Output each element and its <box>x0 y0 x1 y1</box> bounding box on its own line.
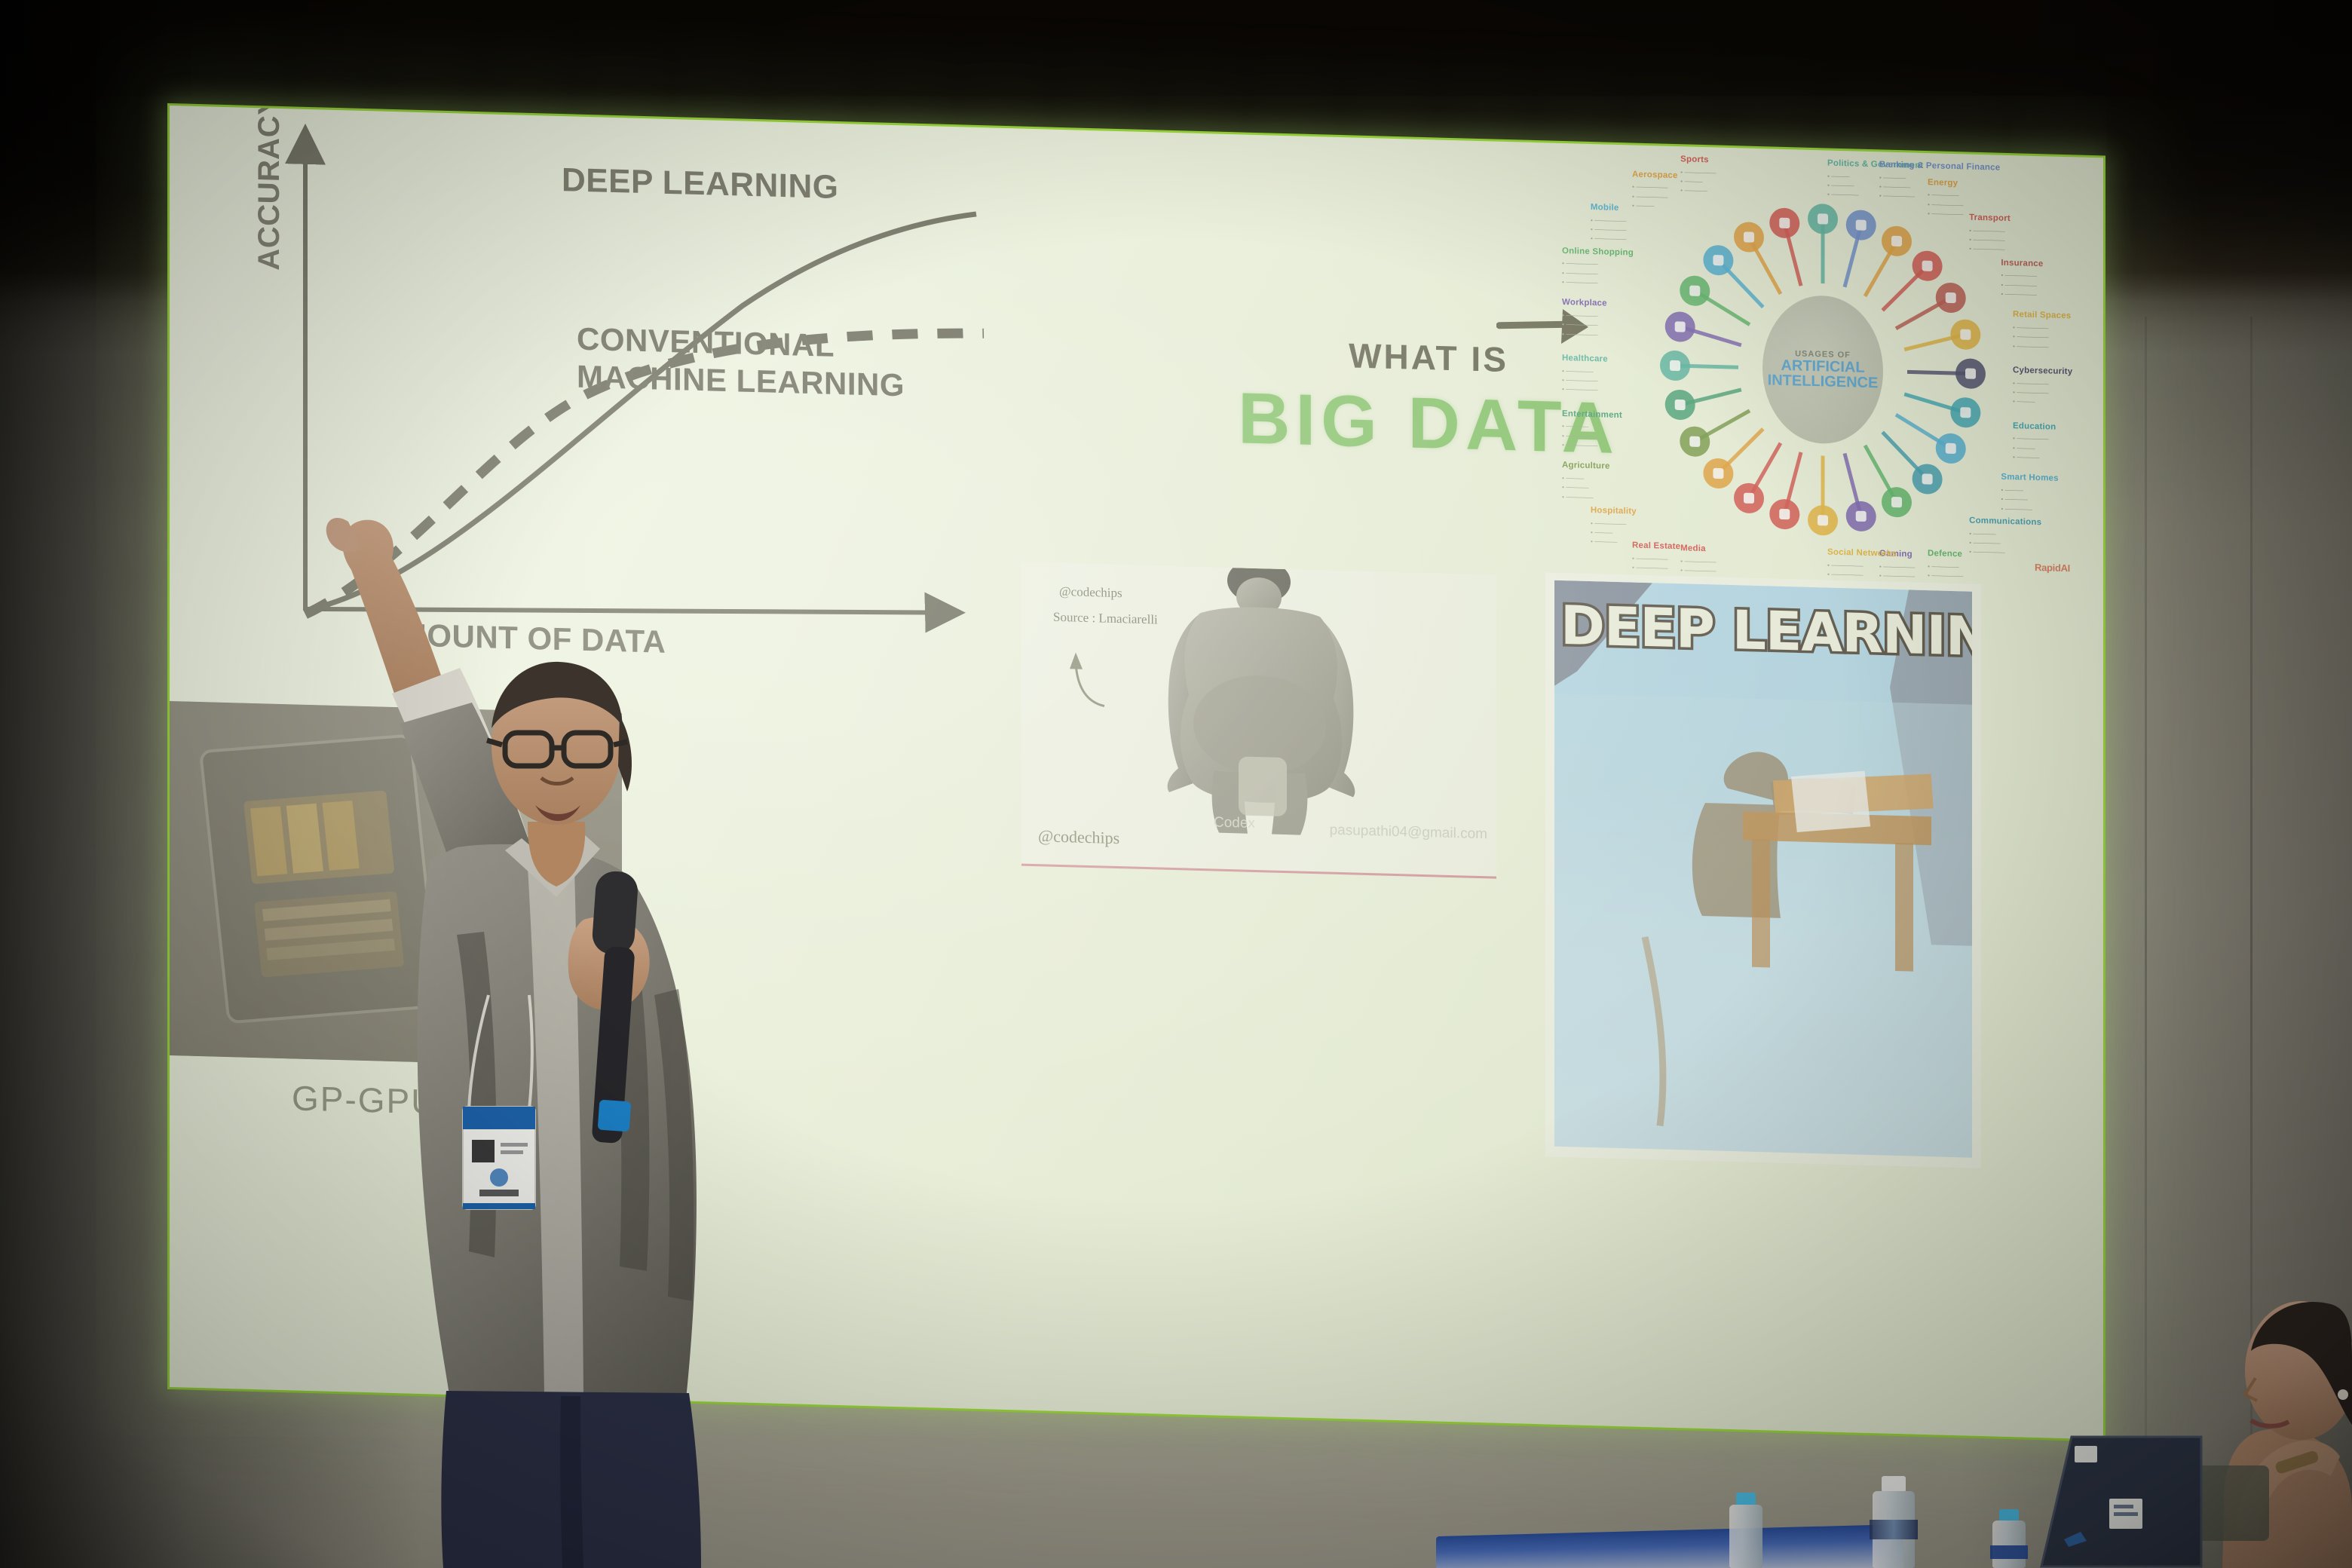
microphone-head <box>591 870 639 956</box>
infographic-sector-icon <box>1675 321 1686 332</box>
infographic-logo: RapidAI <box>2035 562 2070 574</box>
infographic-sector-bullet: • ─────── <box>2013 433 2056 444</box>
infographic-sector-bullet: • ─────── <box>1632 182 1678 193</box>
laptop-sticker <box>2075 1446 2097 1462</box>
infographic-sector-bullet: • ─────── <box>1562 384 1608 395</box>
infographic-sector-note: Cybersecurity• ───────• ───────• ──── <box>2013 364 2072 408</box>
infographic-sector-bullet: • ─────── <box>1562 440 1622 451</box>
infographic-sector-note: Retail Spaces• ───────• ───────• ─────── <box>2013 309 2071 353</box>
infographic-sector-title: Media <box>1680 542 1717 556</box>
infographic-sector-bullet: • ──── <box>1632 201 1678 211</box>
infographic-sector-note: Education• ───────• ────• ───── <box>2013 420 2056 463</box>
infographic-sector-bullet: • ───── <box>1680 186 1717 197</box>
infographic-sector-icon <box>1713 255 1723 265</box>
poster-title: DEEP LEARNING <box>1560 594 1972 668</box>
infographic-sector-bullet: • ─────── <box>1591 234 1627 244</box>
infographic-sector-note: Aerospace• ───────• ───────• ──── <box>1632 168 1678 211</box>
infographic-sector-title: Energy <box>1928 176 1964 190</box>
laptop[interactable] <box>2031 1432 2204 1568</box>
infographic-sector-title: Communications <box>1969 515 2041 529</box>
infographic-sector-icon <box>1689 436 1700 447</box>
infographic-sector-title: Entertainment <box>1562 408 1622 422</box>
infographic-sector-icon <box>1856 511 1867 522</box>
water-bottle <box>1870 1476 1918 1568</box>
infographic-sector-bullet: • ───── <box>1562 482 1610 493</box>
infographic-sector-bullet: • ─────── <box>2001 289 2043 300</box>
infographic-sector-title: Real Estate <box>1632 540 1680 553</box>
infographic-sector-note: Sports• ───────• ────• ───── <box>1680 153 1717 196</box>
infographic-sector-bullet: • ────── <box>1562 492 1610 503</box>
infographic-sector-note: Energy• ──────• ───────• ─────── <box>1928 176 1964 219</box>
meme-handle-bottom: @codechips <box>1038 826 1119 848</box>
infographic-sector-icon <box>1670 360 1680 371</box>
infographic-sector-note: Mobile• ───────• ───────• ─────── <box>1591 201 1627 244</box>
infographic-center-title-2: INTELLIGENCE <box>1768 372 1879 390</box>
infographic-sector-bullet: • ─────── <box>1928 209 1964 219</box>
infographic-sector-title: Insurance <box>2001 256 2043 270</box>
infographic-sector-bullet: • ────── <box>1928 190 1964 201</box>
infographic-sector-note: Healthcare• ──────• ───────• ─────── <box>1562 352 1608 395</box>
big-data-meme-image: @codechips Source : Lmaciarelli @codechi… <box>1021 562 1496 879</box>
poster-pool-photo: DEEP LEARNING <box>1554 580 1972 1158</box>
infographic-sector-note: Insurance• ───────• ───────• ─────── <box>2001 256 2043 299</box>
infographic-sector-bullet: • ─────── <box>1562 320 1607 330</box>
water-bottle <box>1726 1493 1766 1568</box>
laptop-svg[interactable] <box>2031 1432 2204 1568</box>
infographic-sector-title: Social Networks <box>1827 547 1897 561</box>
infographic-sector-title: Hospitality <box>1591 504 1637 518</box>
microphone-band <box>598 1100 632 1132</box>
infographic-sector-title: Sports <box>1680 153 1717 167</box>
infographic-sector-icon <box>1744 493 1754 504</box>
infographic-sector-bullet: • ─────── <box>1928 200 1964 210</box>
infographic-sector-icon <box>1922 473 1933 484</box>
infographic-sector-bullet: • ─────── <box>1562 277 1634 289</box>
infographic-sector-note: Agriculture• ────• ─────• ────── <box>1562 459 1610 502</box>
presenter-svg <box>279 467 807 1568</box>
meme-pointer-arrow <box>1052 635 1119 709</box>
infographic-sector-icon <box>1818 515 1828 525</box>
infographic-sector-title: Mobile <box>1591 201 1627 215</box>
deep-learning-curve-label: DEEP LEARNING <box>562 161 839 207</box>
infographic-sector-note: Hospitality• ───────• ────• ───── <box>1591 504 1637 547</box>
infographic-sector-bullet: • ─────── <box>1928 571 1964 581</box>
infographic-sector-bullet: • ─────── <box>1591 216 1627 226</box>
infographic-sector-bullet: • ─────── <box>1969 547 2041 559</box>
infographic-sector-icon <box>1779 509 1790 519</box>
conventional-ml-curve-label: CONVENTIONAL MACHINE LEARNING <box>577 320 905 404</box>
infographic-sector-bullet: • ─────── <box>1562 329 1607 340</box>
ai-usages-infographic: USAGES OF ARTIFICIAL INTELLIGENCE Politi… <box>1560 147 2081 583</box>
infographic-sector-bullet: • ─────── <box>2013 341 2071 352</box>
infographic-sector-icon <box>1779 218 1790 228</box>
infographic-sector-icon <box>1891 497 1902 507</box>
infographic-sector-icon <box>1713 468 1723 479</box>
infographic-sector-icon <box>1891 236 1902 247</box>
earring <box>2338 1389 2348 1400</box>
infographic-sector-title: Education <box>2013 420 2056 433</box>
meme-watermark: Codex <box>1214 814 1255 831</box>
infographic-sector-icon <box>1960 407 1971 418</box>
infographic-sector-title: Cybersecurity <box>2013 364 2072 378</box>
infographic-sector-bullet: • ────── <box>2001 504 2058 514</box>
infographic-sector-bullet: • ───── <box>2013 452 2056 463</box>
underwater-desk-svg <box>1554 580 1972 1158</box>
water-bottle <box>1990 1509 2028 1568</box>
infographic-sector-title: Online Shopping <box>1562 245 1634 259</box>
infographic-sector-icon <box>1960 329 1971 340</box>
photo-scene: ACCURACY AMOUNT OF DATA DEEP LEARNING CO… <box>0 0 2352 1568</box>
infographic-sector-icon <box>1818 213 1828 224</box>
infographic-sector-title: Retail Spaces <box>2013 309 2071 323</box>
infographic-sector-title: Workplace <box>1562 296 1607 310</box>
infographic-sector-note: Workplace• ───────• ───────• ─────── <box>1562 296 1607 339</box>
infographic-sector-icon <box>1856 219 1867 230</box>
infographic-sector-bullet: • ─────── <box>2001 271 2043 281</box>
presenter <box>279 467 807 1568</box>
infographic-sector-bullet: • ─────── <box>1969 244 2011 255</box>
infographic-sector-note: Entertainment• ─────• ──────• ─────── <box>1562 408 1622 452</box>
infographic-sector-title: Banking & Personal Finance <box>1879 158 2001 174</box>
infographic-sector-icon <box>1965 368 1976 378</box>
infographic-sector-title: Healthcare <box>1562 352 1608 366</box>
infographic-sector-title: Agriculture <box>1562 459 1610 473</box>
chart-y-axis-label: ACCURACY <box>253 106 286 271</box>
infographic-sector-icon <box>1946 292 1956 303</box>
infographic-sector-icon <box>1922 261 1933 271</box>
meme-handle-top: @codechips <box>1059 584 1122 601</box>
infographic-sector-title: Smart Homes <box>2001 471 2058 485</box>
deep-learning-poster: DEEP LEARNING <box>1545 572 1981 1168</box>
infographic-sector-title: Transport <box>1969 211 2011 225</box>
infographic-sector-icon <box>1675 400 1686 410</box>
infographic-sector-icon <box>1689 286 1700 296</box>
infographic-sector-note: Online Shopping• ───────• ───────• ─────… <box>1562 245 1634 289</box>
infographic-sector-icon <box>1946 443 1956 454</box>
infographic-sector-icon <box>1744 231 1754 242</box>
infographic-sector-note: Transport• ───────• ───────• ─────── <box>1969 211 2011 254</box>
meme-pointer-arrow-svg <box>1052 635 1119 709</box>
infographic-sector-bullet: • ──── <box>2013 397 2072 407</box>
infographic-sector-bullet: • ───── <box>1591 537 1637 547</box>
infographic-sector-title: Defence <box>1928 547 1964 561</box>
infographic-sector-note: Smart Homes• ────• ─────• ────── <box>2001 471 2058 515</box>
infographic-sector-note: Communications• ─────• ──────• ─────── <box>1969 515 2041 559</box>
meme-source-note: Source : Lmaciarelli <box>1053 610 1158 628</box>
infographic-sector-title: Aerospace <box>1632 168 1678 182</box>
